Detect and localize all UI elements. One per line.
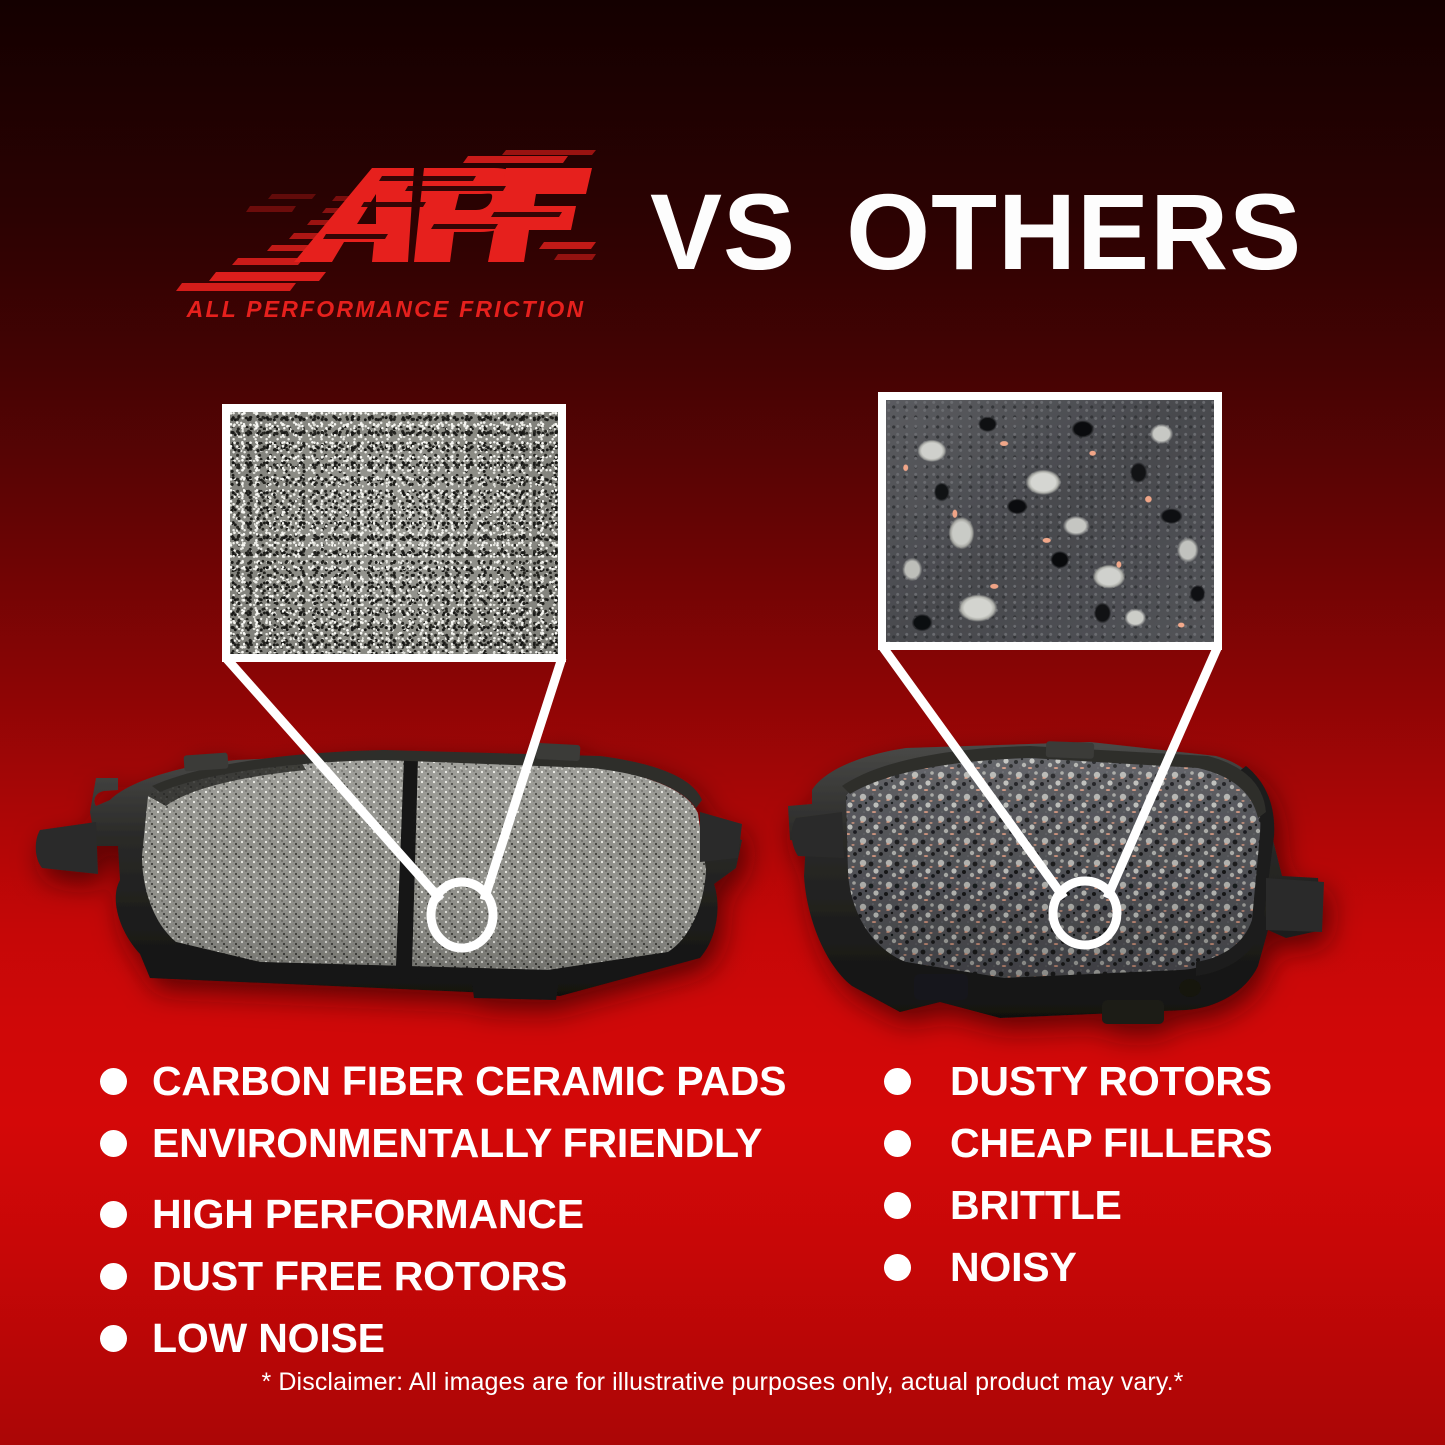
bullet-icon (884, 1254, 911, 1281)
apf-brake-pad (36, 743, 742, 1000)
feature-label: NOISY (950, 1247, 1077, 1288)
feature-label: CARBON FIBER CERAMIC PADS (152, 1061, 786, 1102)
fine-ceramic-texture (230, 412, 558, 654)
bullet-icon (884, 1192, 911, 1219)
apf-feature-list: CARBON FIBER CERAMIC PADS ENVIRONMENTALL… (100, 1050, 820, 1369)
others-brake-pad (788, 741, 1324, 1024)
list-item: CHEAP FILLERS (884, 1112, 1364, 1174)
bullet-icon (884, 1068, 911, 1095)
list-item: DUSTY ROTORS (884, 1050, 1364, 1112)
apf-material-swatch-image (230, 412, 558, 654)
list-item: DUST FREE ROTORS (100, 1245, 820, 1307)
feature-label: CHEAP FILLERS (950, 1123, 1272, 1164)
coarse-filler-texture (886, 400, 1214, 642)
apf-material-swatch (222, 404, 566, 662)
bullet-icon (100, 1068, 127, 1095)
list-item: ENVIRONMENTALLY FRIENDLY (100, 1112, 820, 1174)
others-feature-list: DUSTY ROTORS CHEAP FILLERS BRITTLE NOISY (884, 1050, 1364, 1298)
bullet-icon (100, 1130, 127, 1157)
list-item: CARBON FIBER CERAMIC PADS (100, 1050, 820, 1112)
others-material-swatch-image (886, 400, 1214, 642)
feature-label: BRITTLE (950, 1185, 1122, 1226)
bullet-icon (100, 1201, 127, 1228)
feature-label: HIGH PERFORMANCE (152, 1194, 584, 1235)
feature-label: DUSTY ROTORS (950, 1061, 1272, 1102)
list-item: LOW NOISE (100, 1307, 820, 1369)
bullet-icon (100, 1263, 127, 1290)
others-material-swatch (878, 392, 1222, 650)
feature-label: ENVIRONMENTALLY FRIENDLY (152, 1123, 762, 1164)
list-item: BRITTLE (884, 1174, 1364, 1236)
bullet-icon (100, 1325, 127, 1352)
feature-label: DUST FREE ROTORS (152, 1256, 567, 1297)
list-item: NOISY (884, 1236, 1364, 1298)
feature-label: LOW NOISE (152, 1318, 385, 1359)
comparison-infographic: ALL PERFORMANCE FRICTION VSOTHERS (0, 0, 1445, 1445)
bullet-icon (884, 1130, 911, 1157)
list-item: HIGH PERFORMANCE (100, 1183, 820, 1245)
disclaimer-text: * Disclaimer: All images are for illustr… (0, 1368, 1445, 1397)
